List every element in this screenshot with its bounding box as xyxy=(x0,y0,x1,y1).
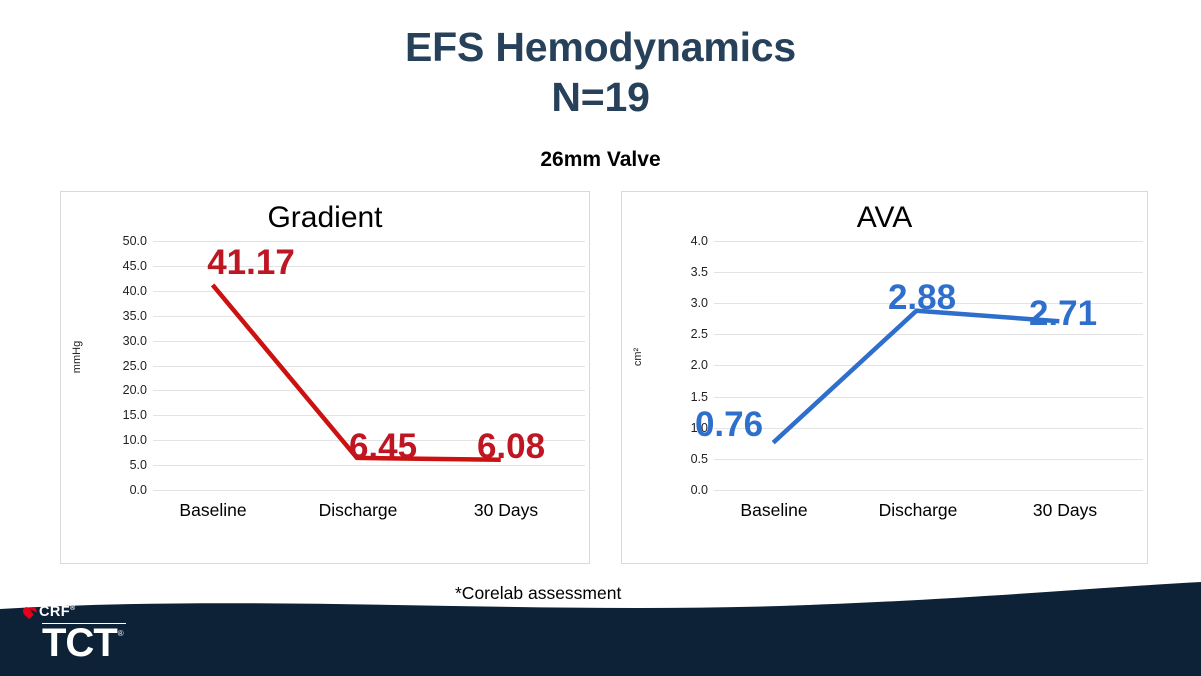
y-tick: 45.0 xyxy=(91,259,147,273)
data-label-ava-discharge: 2.88 xyxy=(888,278,956,318)
page-title-line1: EFS Hemodynamics xyxy=(0,22,1201,72)
y-tick: 1.5 xyxy=(652,390,708,404)
gridline xyxy=(714,490,1143,491)
chart-ava: AVA cm² 4.0 3.5 3.0 2.5 2.0 1.5 1.0 0.5 … xyxy=(621,191,1148,564)
n-label-baseline: n=19 xyxy=(750,626,779,641)
data-label-ava-30days: 2.71 xyxy=(1029,294,1097,334)
footer-logo-block: CRF® TCT ® xyxy=(22,605,172,662)
footer-band xyxy=(0,580,1201,676)
y-tick: 2.5 xyxy=(652,327,708,341)
y-tick: 10.0 xyxy=(91,433,147,447)
crf-logo-registered: ® xyxy=(70,606,75,613)
y-tick: 15.0 xyxy=(91,408,147,422)
y-tick: 40.0 xyxy=(91,284,147,298)
data-label-gradient-30days: 6.08 xyxy=(477,427,545,467)
y-tick: 3.5 xyxy=(652,265,708,279)
n-label-discharge: n=19 xyxy=(851,626,880,641)
y-tick: 0.0 xyxy=(652,483,708,497)
x-tick-baseline: Baseline xyxy=(740,500,807,521)
tct-logo-label: TCT xyxy=(42,625,117,662)
y-tick: 50.0 xyxy=(91,234,147,248)
heart-icon xyxy=(22,606,37,620)
y-tick: 25.0 xyxy=(91,359,147,373)
page-title: EFS Hemodynamics N=19 xyxy=(0,22,1201,122)
y-tick: 0.5 xyxy=(652,452,708,466)
crf-logo-label: CRF xyxy=(39,604,70,620)
page-subtitle: 26mm Valve xyxy=(0,148,1201,172)
tct-logo-registered: ® xyxy=(118,629,124,638)
page-title-line2: N=19 xyxy=(0,72,1201,122)
chart-gradient-y-ticks: 50.0 45.0 40.0 35.0 30.0 25.0 20.0 15.0 … xyxy=(91,192,147,563)
y-tick: 3.0 xyxy=(652,296,708,310)
gridline xyxy=(153,490,585,491)
chart-gradient: Gradient mmHg 50.0 45.0 40.0 35.0 30.0 2… xyxy=(60,191,590,564)
data-label-gradient-baseline: 41.17 xyxy=(207,243,295,283)
x-tick-baseline: Baseline xyxy=(179,500,246,521)
crf-logo: CRF® xyxy=(22,605,172,621)
y-tick: 20.0 xyxy=(91,383,147,397)
y-tick: 30.0 xyxy=(91,334,147,348)
x-tick-discharge: Discharge xyxy=(319,500,398,521)
y-tick: 5.0 xyxy=(91,458,147,472)
chart-ava-y-ticks: 4.0 3.5 3.0 2.5 2.0 1.5 1.0 0.5 0.0 xyxy=(652,192,708,563)
y-tick: 2.0 xyxy=(652,358,708,372)
chart-gradient-y-axis-label: mmHg xyxy=(71,334,83,380)
crf-logo-text: CRF® xyxy=(39,605,75,620)
data-label-ava-baseline: 0.76 xyxy=(695,405,763,445)
y-tick: 0.0 xyxy=(91,483,147,497)
chart-ava-y-axis-label: cm² xyxy=(632,334,644,380)
y-tick: 4.0 xyxy=(652,234,708,248)
y-tick: 35.0 xyxy=(91,309,147,323)
x-tick-30days: 30 Days xyxy=(1033,500,1097,521)
x-tick-30days: 30 Days xyxy=(474,500,538,521)
data-label-gradient-discharge: 6.45 xyxy=(349,427,417,467)
x-tick-discharge: Discharge xyxy=(879,500,958,521)
footer-band-shape xyxy=(0,580,1201,676)
n-label-30days: n=17 xyxy=(948,626,977,641)
tct-logo: TCT ® xyxy=(42,625,172,662)
